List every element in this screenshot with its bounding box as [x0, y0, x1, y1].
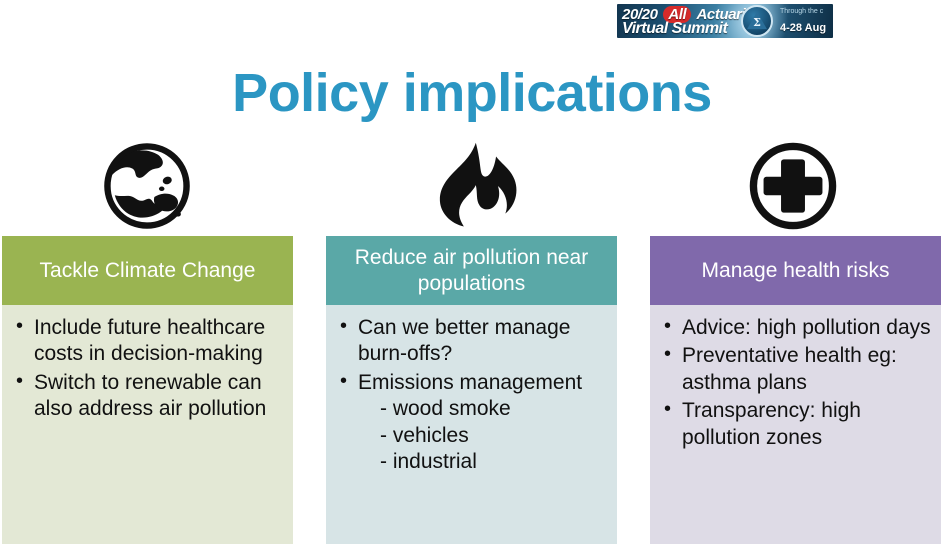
list-item-label: Emissions management: [358, 371, 582, 394]
column-body: Can we better manage burn-offs? Emission…: [326, 305, 617, 544]
policy-column-reduce-air-pollution: Reduce air pollution near populations Ca…: [326, 236, 617, 544]
list-item: Transparency: high pollution zones: [660, 398, 933, 451]
list-item: Include future healthcare costs in decis…: [12, 315, 285, 368]
bullet-list: Advice: high pollution days Preventative…: [660, 315, 933, 451]
emblem-sigma-glyph: Σ: [743, 16, 771, 29]
column-header: Tackle Climate Change: [2, 236, 293, 305]
summit-banner-logo: 20/20 All Actuaries Virtual Summit Σ Thr…: [617, 4, 833, 38]
sub-list-item: - industrial: [358, 449, 609, 475]
list-item: Emissions management - wood smoke - vehi…: [336, 370, 609, 476]
banner-line-2: Virtual Summit: [622, 20, 727, 38]
list-item: Preventative health eg: asthma plans: [660, 343, 933, 396]
banner-dates: 4-28 Aug: [780, 22, 826, 34]
list-item: Switch to renewable can also address air…: [12, 370, 285, 423]
policy-column-tackle-climate-change: Tackle Climate Change Include future hea…: [2, 236, 293, 544]
globe-icon: [101, 140, 193, 232]
policy-column-manage-health-risks: Manage health risks Advice: high polluti…: [650, 236, 941, 544]
bullet-list: Can we better manage burn-offs? Emission…: [336, 315, 609, 476]
medical-cross-icon: [747, 140, 839, 232]
list-item: Can we better manage burn-offs?: [336, 315, 609, 368]
list-item: Advice: high pollution days: [660, 315, 933, 341]
flame-icon: [428, 140, 520, 232]
column-header: Reduce air pollution near populations: [326, 236, 617, 305]
page-title: Policy implications: [0, 66, 944, 120]
sub-list-item: - wood smoke: [358, 396, 609, 422]
column-body: Include future healthcare costs in decis…: [2, 305, 293, 544]
sub-list-item: - vehicles: [358, 423, 609, 449]
column-header: Manage health risks: [650, 236, 941, 305]
banner-tagline: Through the c: [780, 8, 823, 15]
bullet-list: Include future healthcare costs in decis…: [12, 315, 285, 423]
summit-emblem-icon: Σ: [741, 5, 773, 37]
column-body: Advice: high pollution days Preventative…: [650, 305, 941, 544]
